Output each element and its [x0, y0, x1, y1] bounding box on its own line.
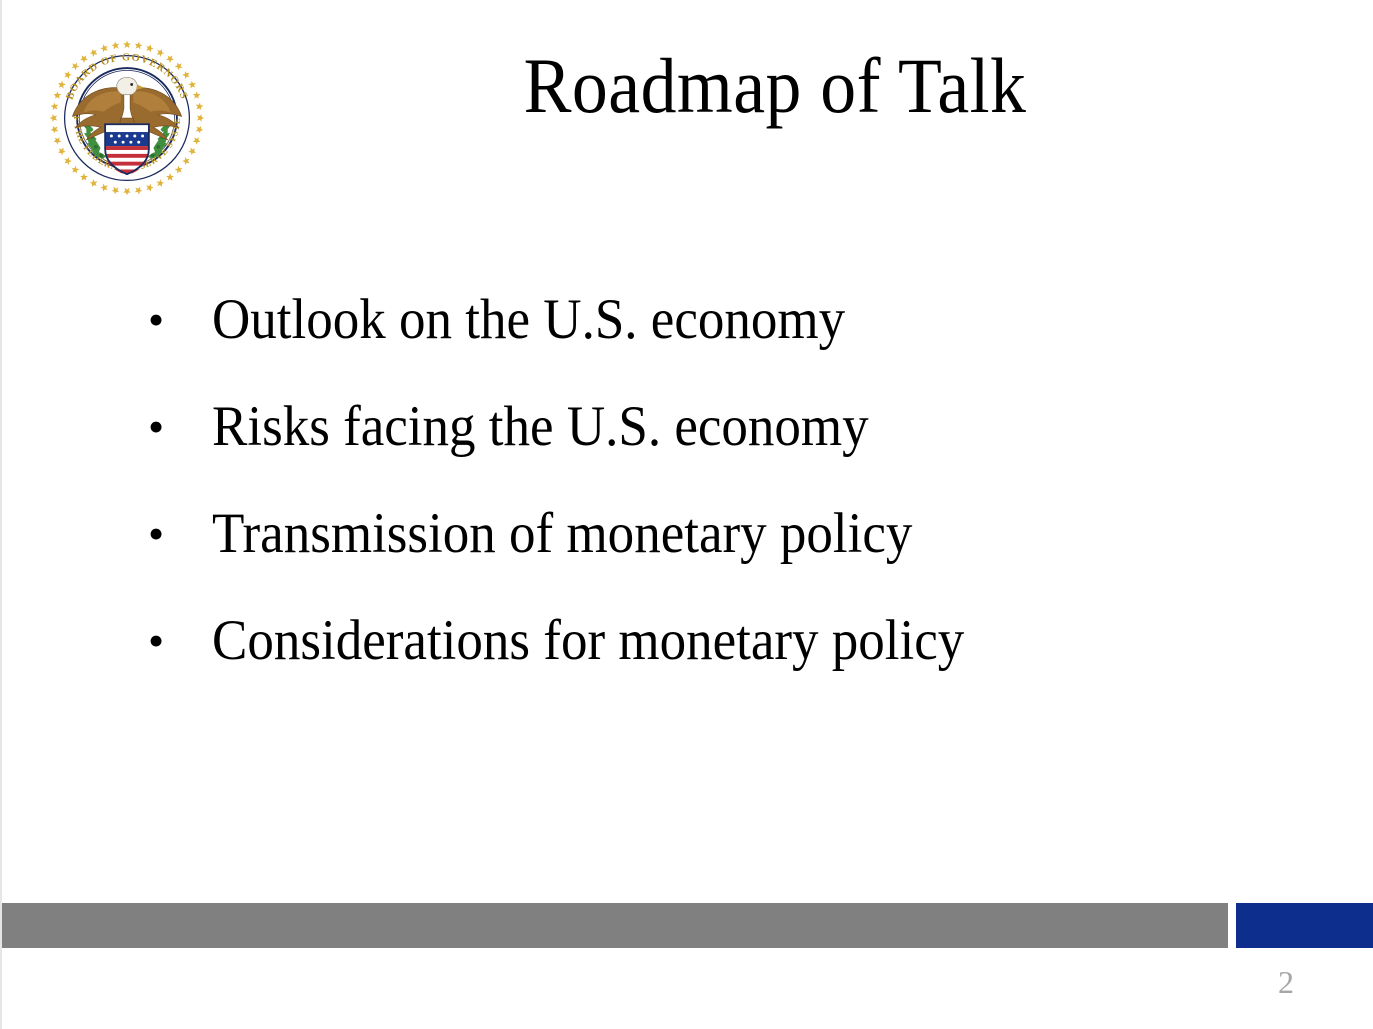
list-item: • Considerations for monetary policy	[140, 606, 1270, 713]
bullet-label-outlook: Outlook on the U.S. economy	[212, 285, 1196, 355]
roadmap-bullet-list: • Outlook on the U.S. economy • Risks fa…	[140, 285, 1270, 713]
footer-gray-bar	[2, 903, 1228, 948]
list-item: • Risks facing the U.S. economy	[140, 392, 1270, 499]
bullet-label-considerations: Considerations for monetary policy	[212, 606, 1196, 676]
list-item: • Transmission of monetary policy	[140, 499, 1270, 606]
list-item: • Outlook on the U.S. economy	[140, 285, 1270, 392]
presentation-slide: BOARD OF GOVERNORS OF THE FEDERAL RESERV…	[0, 0, 1373, 1029]
slide-number: 2	[1258, 962, 1314, 1002]
bullet-label-risks: Risks facing the U.S. economy	[212, 392, 1196, 462]
page-title: Roadmap of Talk	[274, 47, 1277, 125]
bullet-dot-icon: •	[140, 285, 212, 355]
footer-blue-block	[1236, 903, 1373, 948]
federal-reserve-board-seal-icon: BOARD OF GOVERNORS OF THE FEDERAL RESERV…	[48, 40, 206, 196]
slide-left-border	[0, 0, 2, 1029]
bullet-dot-icon: •	[140, 392, 212, 462]
bullet-dot-icon: •	[140, 606, 212, 676]
bullet-dot-icon: •	[140, 499, 212, 569]
bullet-label-transmission: Transmission of monetary policy	[212, 499, 1196, 569]
